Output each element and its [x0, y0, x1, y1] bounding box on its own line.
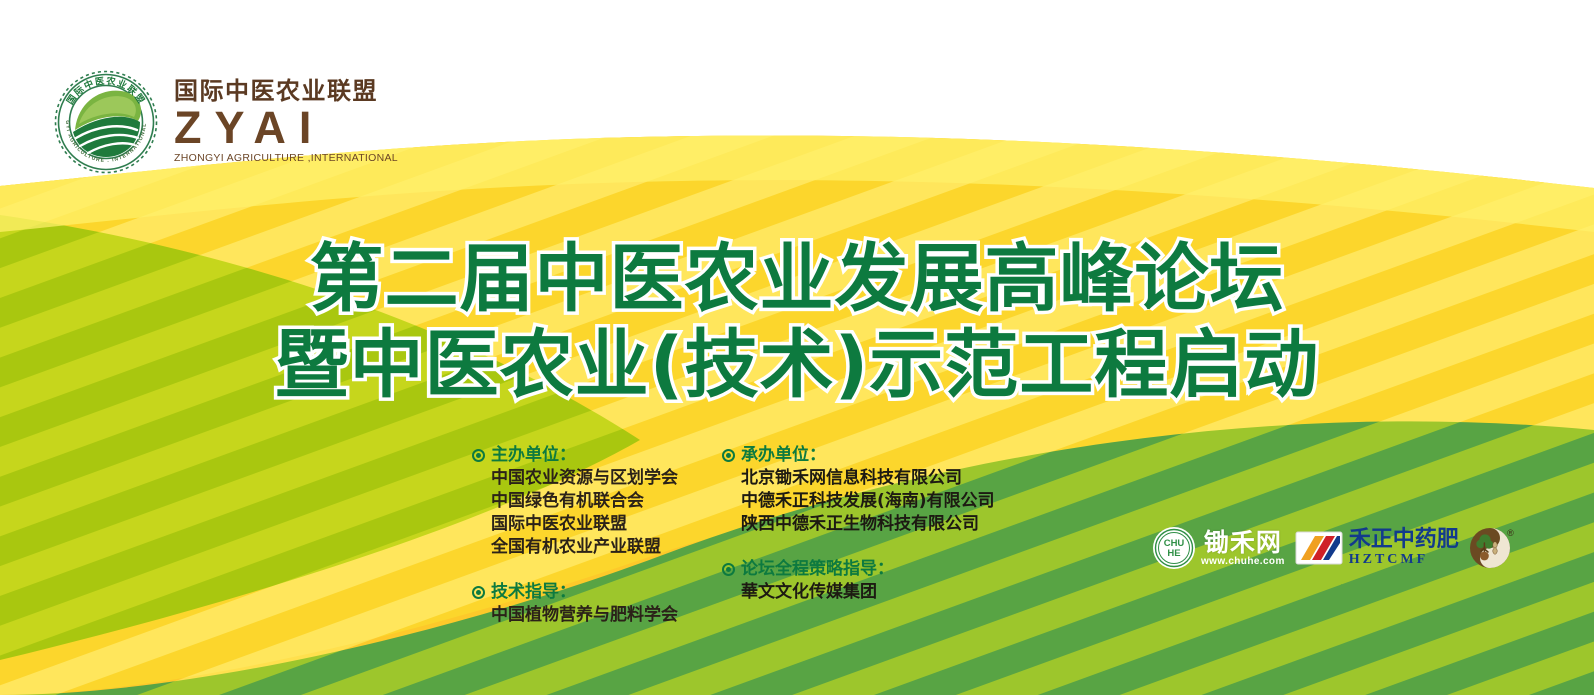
credit-heading-text: 主办单位：: [491, 444, 576, 467]
list-item: 華文文化传媒集团: [741, 581, 995, 604]
list-item: 陕西中德禾正生物科技有限公司: [741, 513, 995, 536]
list-item: 中国植物营养与肥料学会: [491, 604, 678, 627]
credits-column-co-organizers: 承办单位： 北京锄禾网信息科技有限公司 中德禾正科技发展(海南)有限公司 陕西中…: [722, 444, 995, 604]
zyai-logo-lockup: 国际中医农业联盟 ZHONGYI AGRICULTURE . INTERNATI…: [52, 68, 398, 176]
list-item: 中德禾正科技发展(海南)有限公司: [741, 490, 995, 513]
logo-abbr: ZYAI: [174, 107, 324, 150]
logo-name-en: ZHONGYI AGRICULTURE ,INTERNATIONAL: [174, 153, 398, 164]
bullet-icon: [722, 563, 735, 576]
credits-block: 主办单位： 中国农业资源与区划学会 中国绿色有机联合会 国际中医农业联盟 全国有…: [472, 444, 995, 627]
poster-canvas: 国际中医农业联盟 ZHONGYI AGRICULTURE . INTERNATI…: [0, 0, 1594, 695]
credit-heading-text: 论坛全程策略指导：: [741, 558, 894, 581]
sponsor-hztcmf: 禾正中药肥 HZTCMF: [1295, 529, 1459, 567]
credit-heading-strategy-guidance: 论坛全程策略指导：: [722, 558, 995, 581]
chuhe-name-cn: 锄禾网: [1204, 530, 1282, 555]
credit-group-strategy-guidance: 论坛全程策略指导： 華文文化传媒集团: [722, 558, 995, 604]
credit-heading-technical-guidance: 技术指导：: [472, 581, 678, 604]
zyai-emblem-icon: 国际中医农业联盟 ZHONGYI AGRICULTURE . INTERNATI…: [52, 68, 160, 176]
sponsor-chuhe: CHU HE 锄禾网 www.chuhe.com: [1152, 526, 1285, 570]
credits-column-organizers: 主办单位： 中国农业资源与区划学会 中国绿色有机联合会 国际中医农业联盟 全国有…: [472, 444, 678, 627]
list-item: 全国有机农业产业联盟: [491, 536, 678, 559]
list-item: 国际中医农业联盟: [491, 513, 678, 536]
yinyang-registered-mark: ®: [1507, 528, 1514, 538]
bullet-icon: [472, 449, 485, 462]
hzt-name-cn: 禾正中药肥: [1349, 529, 1459, 551]
logo-name-cn: 国际中医农业联盟: [174, 79, 378, 103]
credit-heading-host: 主办单位：: [472, 444, 678, 467]
credit-group-co-host: 承办单位： 北京锄禾网信息科技有限公司 中德禾正科技发展(海南)有限公司 陕西中…: [722, 444, 995, 536]
credit-group-technical-guidance: 技术指导： 中国植物营养与肥料学会: [472, 581, 678, 627]
list-item: 北京锄禾网信息科技有限公司: [741, 467, 995, 490]
credit-list-technical-guidance: 中国植物营养与肥料学会: [472, 604, 678, 627]
yinyang-tree-icon: [1469, 527, 1511, 569]
chuhe-url: www.chuhe.com: [1201, 557, 1285, 567]
credit-heading-co-host: 承办单位：: [722, 444, 995, 467]
bullet-icon: [722, 449, 735, 462]
credit-heading-text: 承办单位：: [741, 444, 826, 467]
chuhe-wordmark: 锄禾网 www.chuhe.com: [1201, 530, 1285, 567]
sponsor-yinyang-tree: ®: [1469, 527, 1511, 569]
sponsor-logo-row: CHU HE 锄禾网 www.chuhe.com 禾正中药肥: [1152, 526, 1511, 570]
credit-heading-text: 技术指导：: [491, 581, 576, 604]
credit-list-strategy-guidance: 華文文化传媒集团: [722, 581, 995, 604]
bullet-icon: [472, 586, 485, 599]
credit-group-host: 主办单位： 中国农业资源与区划学会 中国绿色有机联合会 国际中医农业联盟 全国有…: [472, 444, 678, 559]
chuhe-seal-icon: CHU HE: [1152, 526, 1196, 570]
list-item: 中国绿色有机联合会: [491, 490, 678, 513]
svg-text:HE: HE: [1167, 548, 1180, 559]
credit-list-host: 中国农业资源与区划学会 中国绿色有机联合会 国际中医农业联盟 全国有机农业产业联…: [472, 467, 678, 559]
zyai-wordmark: 国际中医农业联盟 ZYAI ZHONGYI AGRICULTURE ,INTER…: [174, 79, 398, 165]
list-item: 中国农业资源与区划学会: [491, 467, 678, 490]
hzt-name-en: HZTCMF: [1349, 553, 1459, 567]
hzt-slash-icon: [1295, 531, 1343, 565]
hzt-wordmark: 禾正中药肥 HZTCMF: [1349, 529, 1459, 567]
credit-list-co-host: 北京锄禾网信息科技有限公司 中德禾正科技发展(海南)有限公司 陕西中德禾正生物科…: [722, 467, 995, 536]
